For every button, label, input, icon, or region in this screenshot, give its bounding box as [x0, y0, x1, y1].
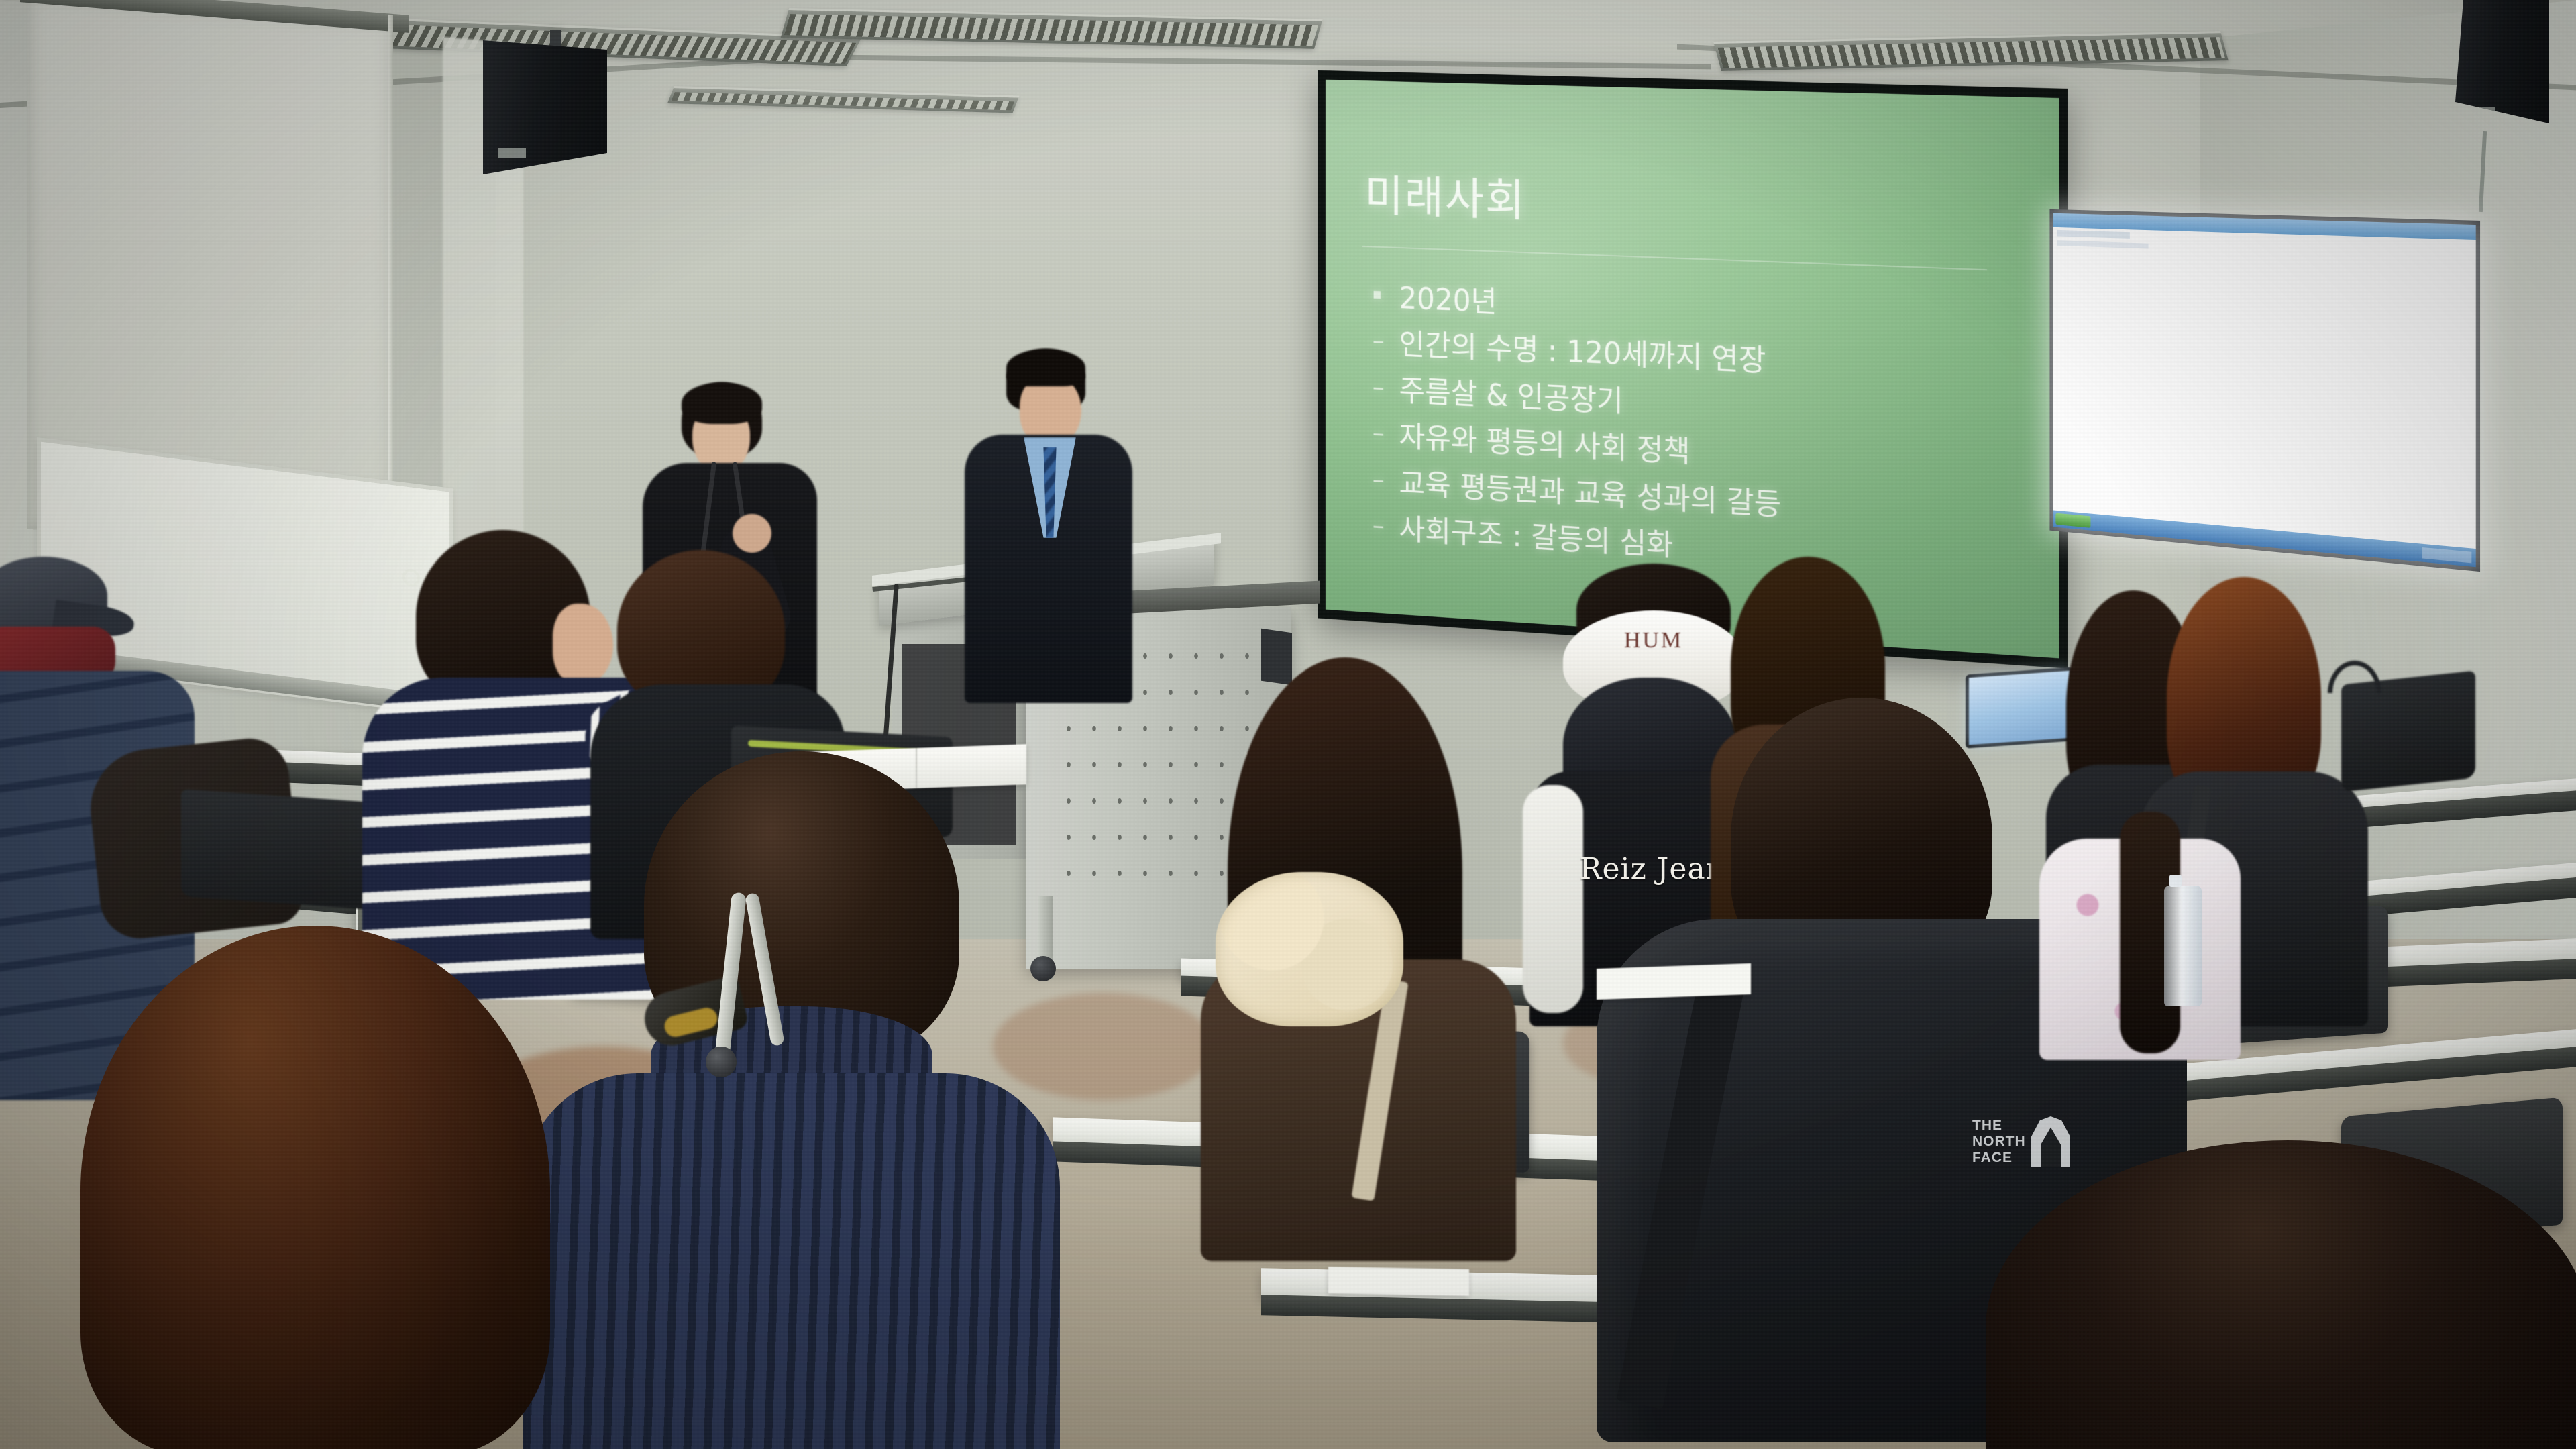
slide-bullet-list: ▪ 2020년 – 인간의 수명 : 120세까지 연장 – 주름살 & 인공장… — [1373, 277, 2047, 596]
bullet-marker: – — [1373, 370, 1389, 406]
lectern-corner-bracket — [1261, 629, 1292, 685]
window-menubar — [2057, 230, 2130, 239]
laptop[interactable] — [1966, 667, 2073, 748]
window-toolbar — [2057, 240, 2148, 248]
presenter-woman-hair-front — [682, 382, 762, 424]
north-face-dome-icon — [2031, 1116, 2070, 1167]
start-button[interactable] — [2055, 513, 2090, 528]
bullet-marker: – — [1373, 323, 1389, 360]
tnf-line-3: FACE — [1972, 1150, 2030, 1166]
bullet-marker: ▪ — [1373, 277, 1389, 313]
bullet-text: 2020년 — [1399, 278, 1497, 323]
bullet-text: 주름살 & 인공장기 — [1399, 371, 1623, 423]
north-face-wordmark: THE NORTH FACE — [1972, 1118, 2030, 1166]
chair-caster — [706, 1046, 737, 1077]
bullet-marker: – — [1373, 508, 1389, 544]
bullet-marker: – — [1373, 462, 1389, 498]
paper-sheet[interactable] — [1328, 1267, 1469, 1296]
blind-cord[interactable] — [388, 15, 393, 545]
face-profile — [553, 604, 613, 684]
tnf-line-2: NORTH — [1972, 1134, 2030, 1150]
lectern-caster — [1030, 956, 1056, 981]
cap-text: HUM — [1563, 628, 1744, 653]
tnf-line-1: THE — [1972, 1118, 2030, 1134]
presenter-woman-hand — [733, 514, 771, 553]
hair — [80, 926, 550, 1449]
classroom-photo-scene: 미래사회 ▪ 2020년 – 인간의 수명 : 120세까지 연장 – 주름살 … — [0, 0, 2576, 1449]
water-bottle-red-label[interactable] — [2164, 885, 2202, 1006]
bullet-marker: – — [1373, 416, 1389, 452]
turtleneck-body — [523, 1073, 1060, 1449]
secondary-projection-display — [2049, 209, 2480, 572]
system-tray[interactable] — [2422, 547, 2471, 563]
north-face-logo: THE NORTH FACE — [1972, 1114, 2073, 1178]
slide-title: 미래사회 — [1364, 160, 1525, 229]
hoodie-sleeve-left — [1523, 785, 1583, 1013]
bullet-text: 사회구조 : 갈등의 심화 — [1399, 510, 1674, 568]
floor-stain — [993, 993, 1214, 1100]
laptop-screen — [1969, 671, 2070, 745]
speaker-brand-plate — [498, 148, 526, 158]
presenter-man-hair-top — [1006, 349, 1085, 386]
slide-divider — [1362, 246, 1987, 270]
secondary-window — [2053, 213, 2476, 567]
wall-speaker-left — [483, 40, 607, 174]
paper-sheet[interactable] — [1597, 963, 1751, 1000]
fur-bag[interactable] — [1216, 872, 1403, 1026]
